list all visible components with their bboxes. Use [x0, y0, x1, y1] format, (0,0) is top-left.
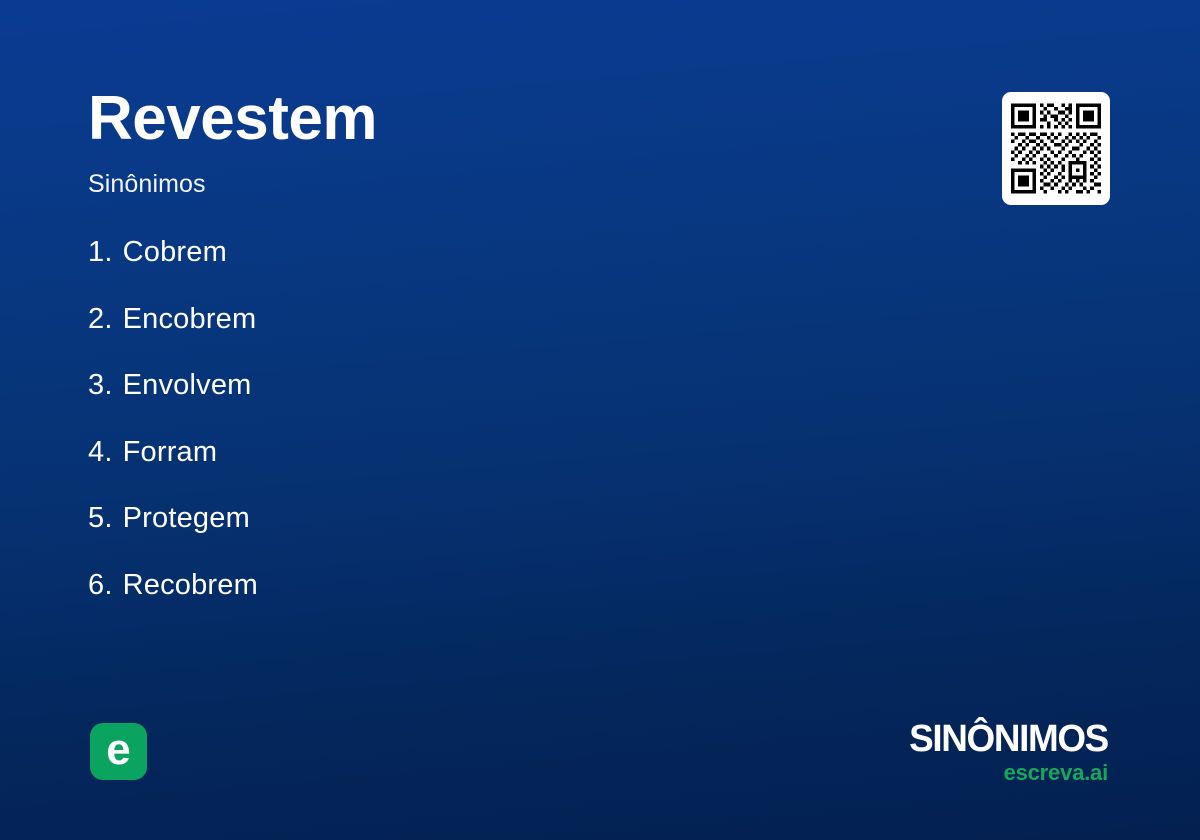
- footer-logo-subtitle: escreva.ai: [903, 758, 1108, 784]
- list-item-index: 1.: [88, 236, 113, 269]
- list-item: 1. Cobrem: [88, 236, 828, 303]
- list-item-word: Cobrem: [123, 236, 227, 269]
- list-item: 2. Encobrem: [88, 303, 828, 370]
- header: Revestem Sinônimos: [88, 88, 788, 199]
- list-item-index: 5.: [88, 502, 113, 535]
- page-title: Revestem: [88, 88, 788, 150]
- synonyms-card: Revestem Sinônimos 1. Cobrem 2. Encobrem…: [0, 0, 1200, 840]
- list-item: 3. Envolvem: [88, 369, 828, 436]
- synonym-list: 1. Cobrem 2. Encobrem 3. Envolvem 4. For…: [88, 236, 828, 635]
- footer-logo-title: SINÔNIMOS: [909, 720, 1108, 758]
- qr-code-card[interactable]: [1002, 92, 1110, 205]
- list-item-index: 3.: [88, 369, 113, 402]
- list-item-word: Envolvem: [123, 369, 252, 402]
- footer-logo: SINÔNIMOS escreva.ai: [903, 720, 1108, 784]
- list-item: 6. Recobrem: [88, 569, 828, 636]
- list-item: 5. Protegem: [88, 502, 828, 569]
- page-subtitle: Sinônimos: [88, 150, 788, 199]
- escreva-e-badge-icon[interactable]: e: [90, 723, 147, 780]
- qr-code-icon: [1011, 101, 1101, 196]
- list-item-word: Encobrem: [123, 303, 257, 336]
- list-item-index: 4.: [88, 436, 113, 469]
- list-item: 4. Forram: [88, 436, 828, 503]
- list-item-word: Protegem: [123, 502, 250, 535]
- list-item-word: Forram: [123, 436, 218, 469]
- list-item-index: 2.: [88, 303, 113, 336]
- list-item-index: 6.: [88, 569, 113, 602]
- list-item-word: Recobrem: [123, 569, 258, 602]
- brand-badge-letter: e: [106, 728, 130, 772]
